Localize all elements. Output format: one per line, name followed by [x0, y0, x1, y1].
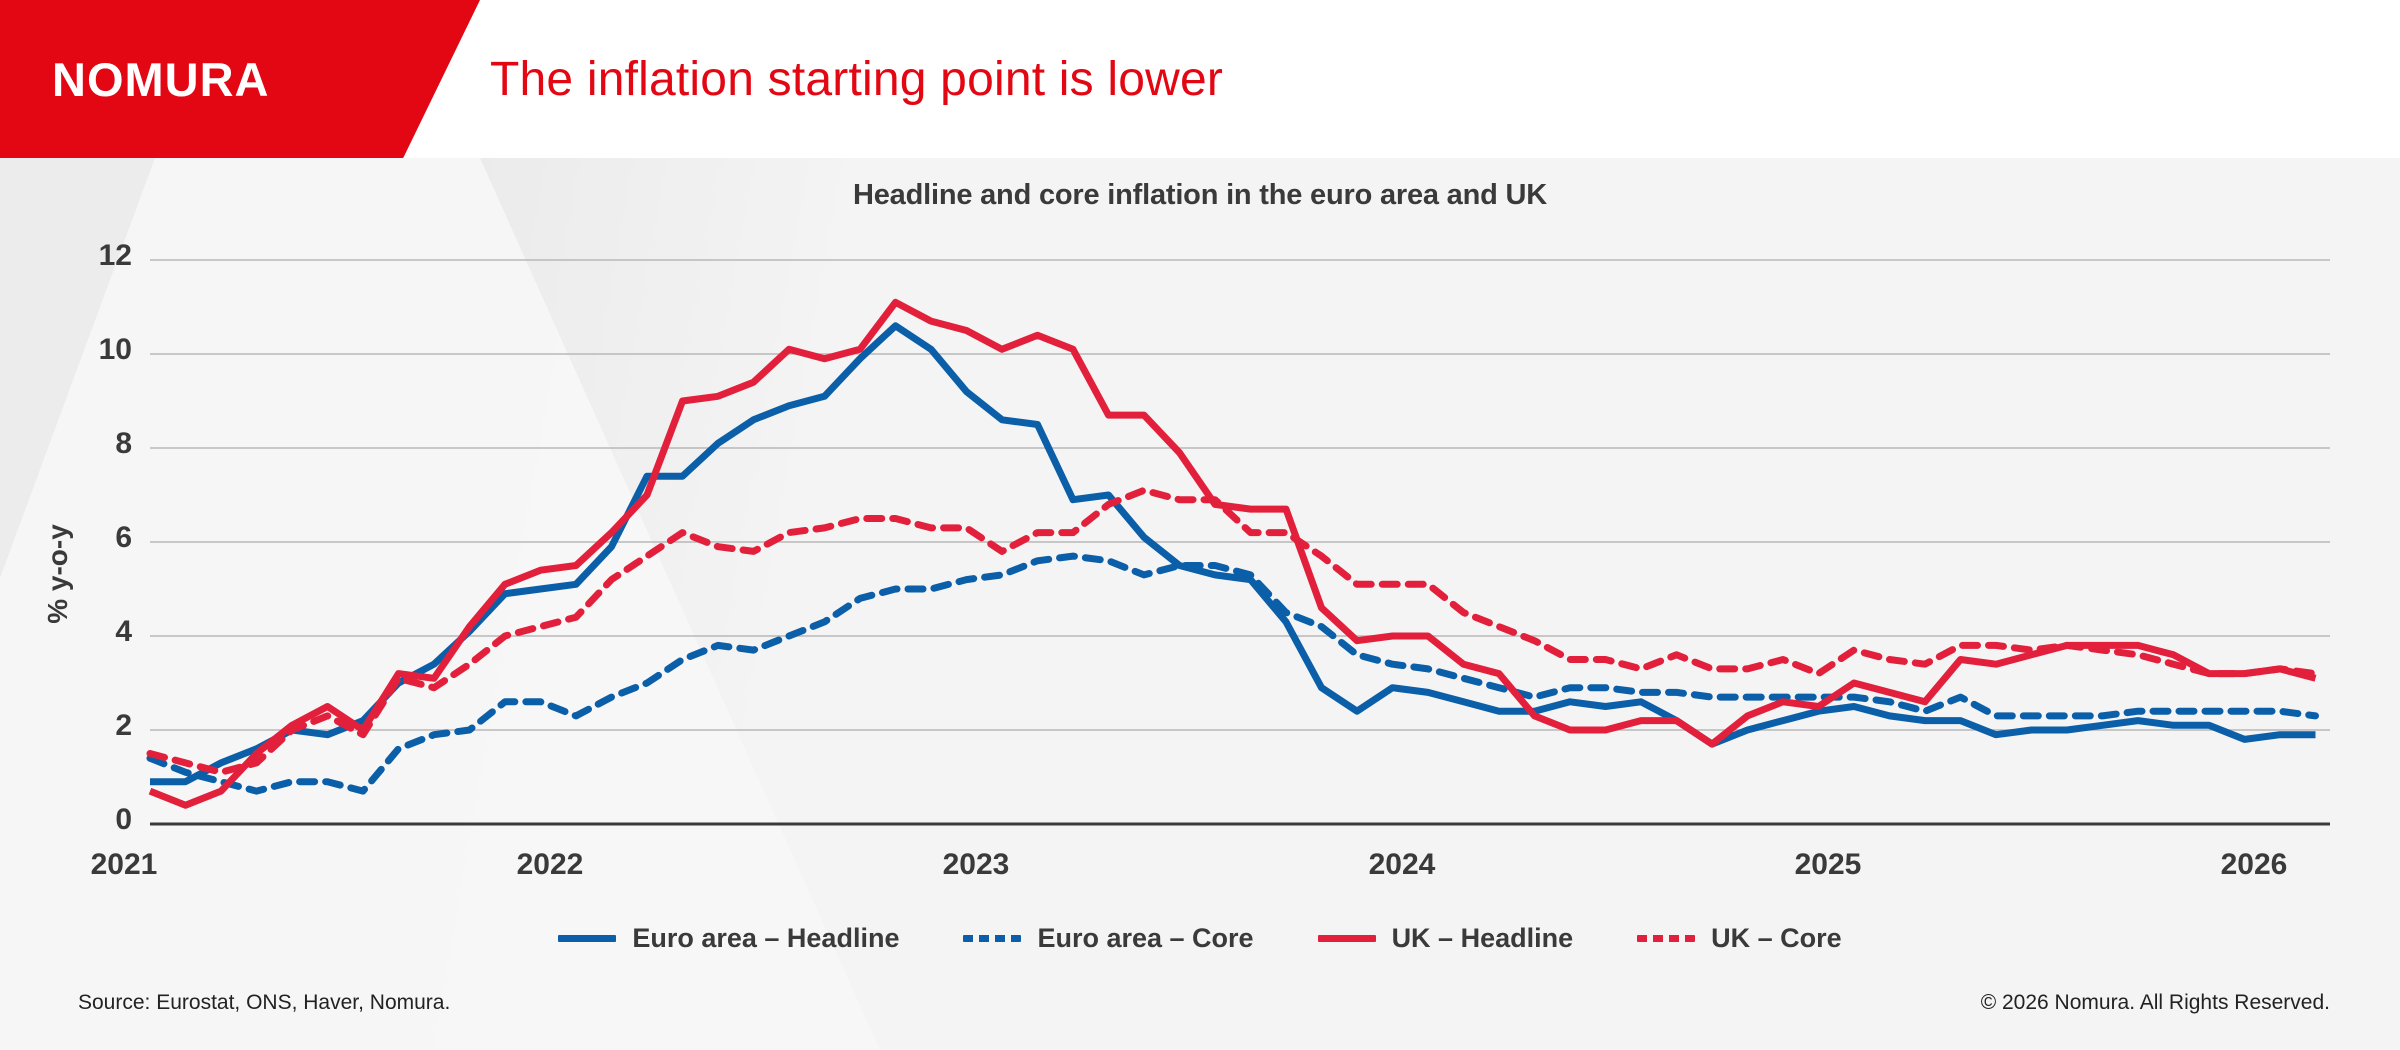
y-tick-2: 2: [62, 709, 132, 743]
y-tick-8: 8: [62, 427, 132, 461]
series-line-euro_core: [150, 556, 2316, 791]
copyright-note: © 2026 Nomura. All Rights Reserved.: [1981, 991, 2330, 1015]
y-tick-4: 4: [62, 615, 132, 649]
legend-item-uk_headline[interactable]: UK – Headline: [1318, 923, 1574, 954]
legend-item-euro_headline[interactable]: Euro area – Headline: [558, 923, 899, 954]
y-tick-10: 10: [62, 333, 132, 367]
legend-label-uk_core: UK – Core: [1711, 923, 1842, 954]
legend-swatch-euro_headline-icon: [558, 935, 616, 942]
page-header: NOMURA The inflation starting point is l…: [0, 0, 2400, 158]
chart-canvas: Headline and core inflation in the euro …: [0, 158, 2400, 1050]
legend-label-uk_headline: UK – Headline: [1392, 923, 1574, 954]
y-tick-6: 6: [62, 521, 132, 555]
chart-page: NOMURA The inflation starting point is l…: [0, 0, 2400, 1050]
legend-swatch-uk_core-icon: [1637, 935, 1695, 942]
legend-swatch-euro_core-icon: [963, 935, 1021, 942]
source-note: Source: Eurostat, ONS, Haver, Nomura.: [78, 991, 450, 1015]
x-tick-2026: 2026: [2221, 848, 2288, 882]
x-tick-2023: 2023: [943, 848, 1010, 882]
chart-svg: [0, 158, 2400, 1050]
nomura-brand-block: NOMURA: [0, 0, 480, 158]
chart-legend: Euro area – HeadlineEuro area – CoreUK –…: [0, 923, 2400, 954]
y-tick-0: 0: [62, 803, 132, 837]
page-title: The inflation starting point is lower: [490, 0, 1223, 158]
series-line-euro_headline: [150, 326, 2316, 782]
legend-swatch-uk_headline-icon: [1318, 935, 1376, 942]
legend-item-euro_core[interactable]: Euro area – Core: [963, 923, 1253, 954]
plot-area: % y-o-y 024681012 2021202220232024202520…: [0, 158, 2400, 1050]
x-tick-2021: 2021: [91, 848, 158, 882]
nomura-logo: NOMURA: [52, 52, 269, 107]
legend-item-uk_core[interactable]: UK – Core: [1637, 923, 1842, 954]
y-tick-12: 12: [62, 239, 132, 273]
x-tick-2025: 2025: [1795, 848, 1862, 882]
y-axis-label: % y-o-y: [42, 464, 74, 684]
x-tick-2024: 2024: [1369, 848, 1436, 882]
legend-label-euro_core: Euro area – Core: [1037, 923, 1253, 954]
legend-label-euro_headline: Euro area – Headline: [632, 923, 899, 954]
x-tick-2022: 2022: [517, 848, 584, 882]
